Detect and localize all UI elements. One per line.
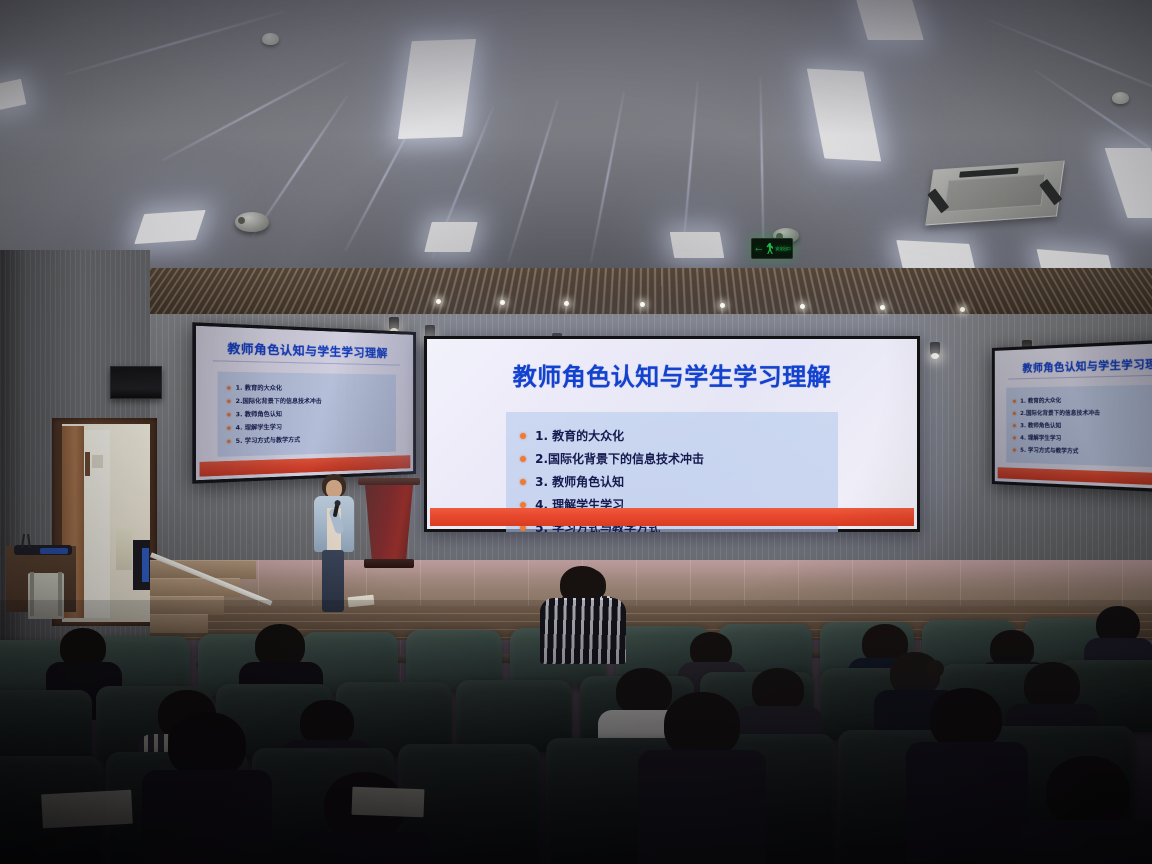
presenter xyxy=(306,474,364,614)
bullet-dot xyxy=(520,502,526,508)
bullet-dot xyxy=(1013,411,1016,414)
slide-bullet: 3. 教师角色认知 xyxy=(535,473,624,490)
left-led-screen[interactable]: 教师角色认知与学生学习理解 1. 教育的大众化 2.国际化背景下的信息技术冲击 … xyxy=(192,322,416,484)
downlight-icon xyxy=(960,307,965,312)
bullet-dot xyxy=(227,439,231,442)
seat[interactable] xyxy=(0,690,92,766)
bullet-dot xyxy=(520,456,526,462)
downlight-icon xyxy=(436,299,441,304)
downlight-icon xyxy=(564,301,569,306)
wood-slat-soffit xyxy=(117,268,1152,314)
slide-bullet-left: 3. 教师角色认知 xyxy=(236,409,282,418)
downlight-icon xyxy=(720,303,725,308)
slide-bullet-right: 3. 教师角色认知 xyxy=(1020,421,1061,430)
slide-bullet-left: 4. 理解学生学习 xyxy=(236,422,282,431)
right-led-screen[interactable]: 教师角色认知与学生学习理解 1. 教育的大众化 2.国际化背景下的信息技术冲击 … xyxy=(992,338,1152,495)
chair-leg xyxy=(30,572,34,616)
downlight-icon xyxy=(800,304,805,309)
slide-bullet-right: 2.国际化背景下的信息技术冲击 xyxy=(1020,408,1100,417)
track-spotlight xyxy=(930,342,940,355)
slide-bullet-right: 4. 理解学生学习 xyxy=(1020,433,1061,442)
corridor-fixture xyxy=(92,455,103,468)
slide-bullet-right: 5. 学习方式与教学方式 xyxy=(1020,446,1078,456)
downlight-icon xyxy=(500,300,505,305)
paper-sheet xyxy=(41,790,133,829)
slide-bullet-left: 5. 学习方式与教学方式 xyxy=(236,435,301,445)
bullet-dot xyxy=(1013,436,1016,439)
bullet-dot xyxy=(227,412,231,415)
track-spotlight xyxy=(389,317,399,330)
downlight-icon xyxy=(880,305,885,310)
bullet-dot xyxy=(227,426,231,429)
bullet-dot xyxy=(227,399,231,402)
bullet-dot xyxy=(1013,424,1016,427)
slide-title-left: 教师角色认知与学生学习理解 xyxy=(196,338,413,362)
bullet-dot xyxy=(520,433,526,439)
bullet-dot xyxy=(1013,448,1016,451)
slide-bullet-left: 2.国际化背景下的信息技术冲击 xyxy=(236,396,322,405)
radiator xyxy=(116,528,132,570)
equipment-on-table xyxy=(40,548,68,554)
auditorium-photo: ← 安全出口 xyxy=(0,0,1152,864)
slide-bullet: 1. 教育的大众化 xyxy=(535,427,624,444)
podium[interactable] xyxy=(358,478,420,570)
downlight-icon xyxy=(640,302,645,307)
corridor-sign xyxy=(85,452,90,476)
wall-mounted-monitor xyxy=(110,366,162,399)
bullet-dot xyxy=(227,386,231,389)
stage-platform xyxy=(150,560,1152,612)
bullet-dot xyxy=(520,479,526,485)
slide-bullet: 2.国际化背景下的信息技术冲击 xyxy=(535,450,704,467)
paper-sheet xyxy=(352,787,425,817)
ceiling: ← 安全出口 xyxy=(0,0,1152,300)
blue-object xyxy=(142,548,149,582)
main-led-screen[interactable]: 教师角色认知与学生学习理解 1. 教育的大众化 2.国际化背景下的信息技术冲击 … xyxy=(424,336,920,532)
bullet-dot xyxy=(1013,399,1016,402)
slide-bullet-right: 1. 教育的大众化 xyxy=(1020,396,1061,405)
chair-leg xyxy=(58,572,62,616)
slide-title: 教师角色认知与学生学习理解 xyxy=(427,357,917,392)
slide-title-right: 教师角色认知与学生学习理解 xyxy=(995,353,1152,376)
slide-bullet-left: 1. 教育的大众化 xyxy=(236,383,282,392)
